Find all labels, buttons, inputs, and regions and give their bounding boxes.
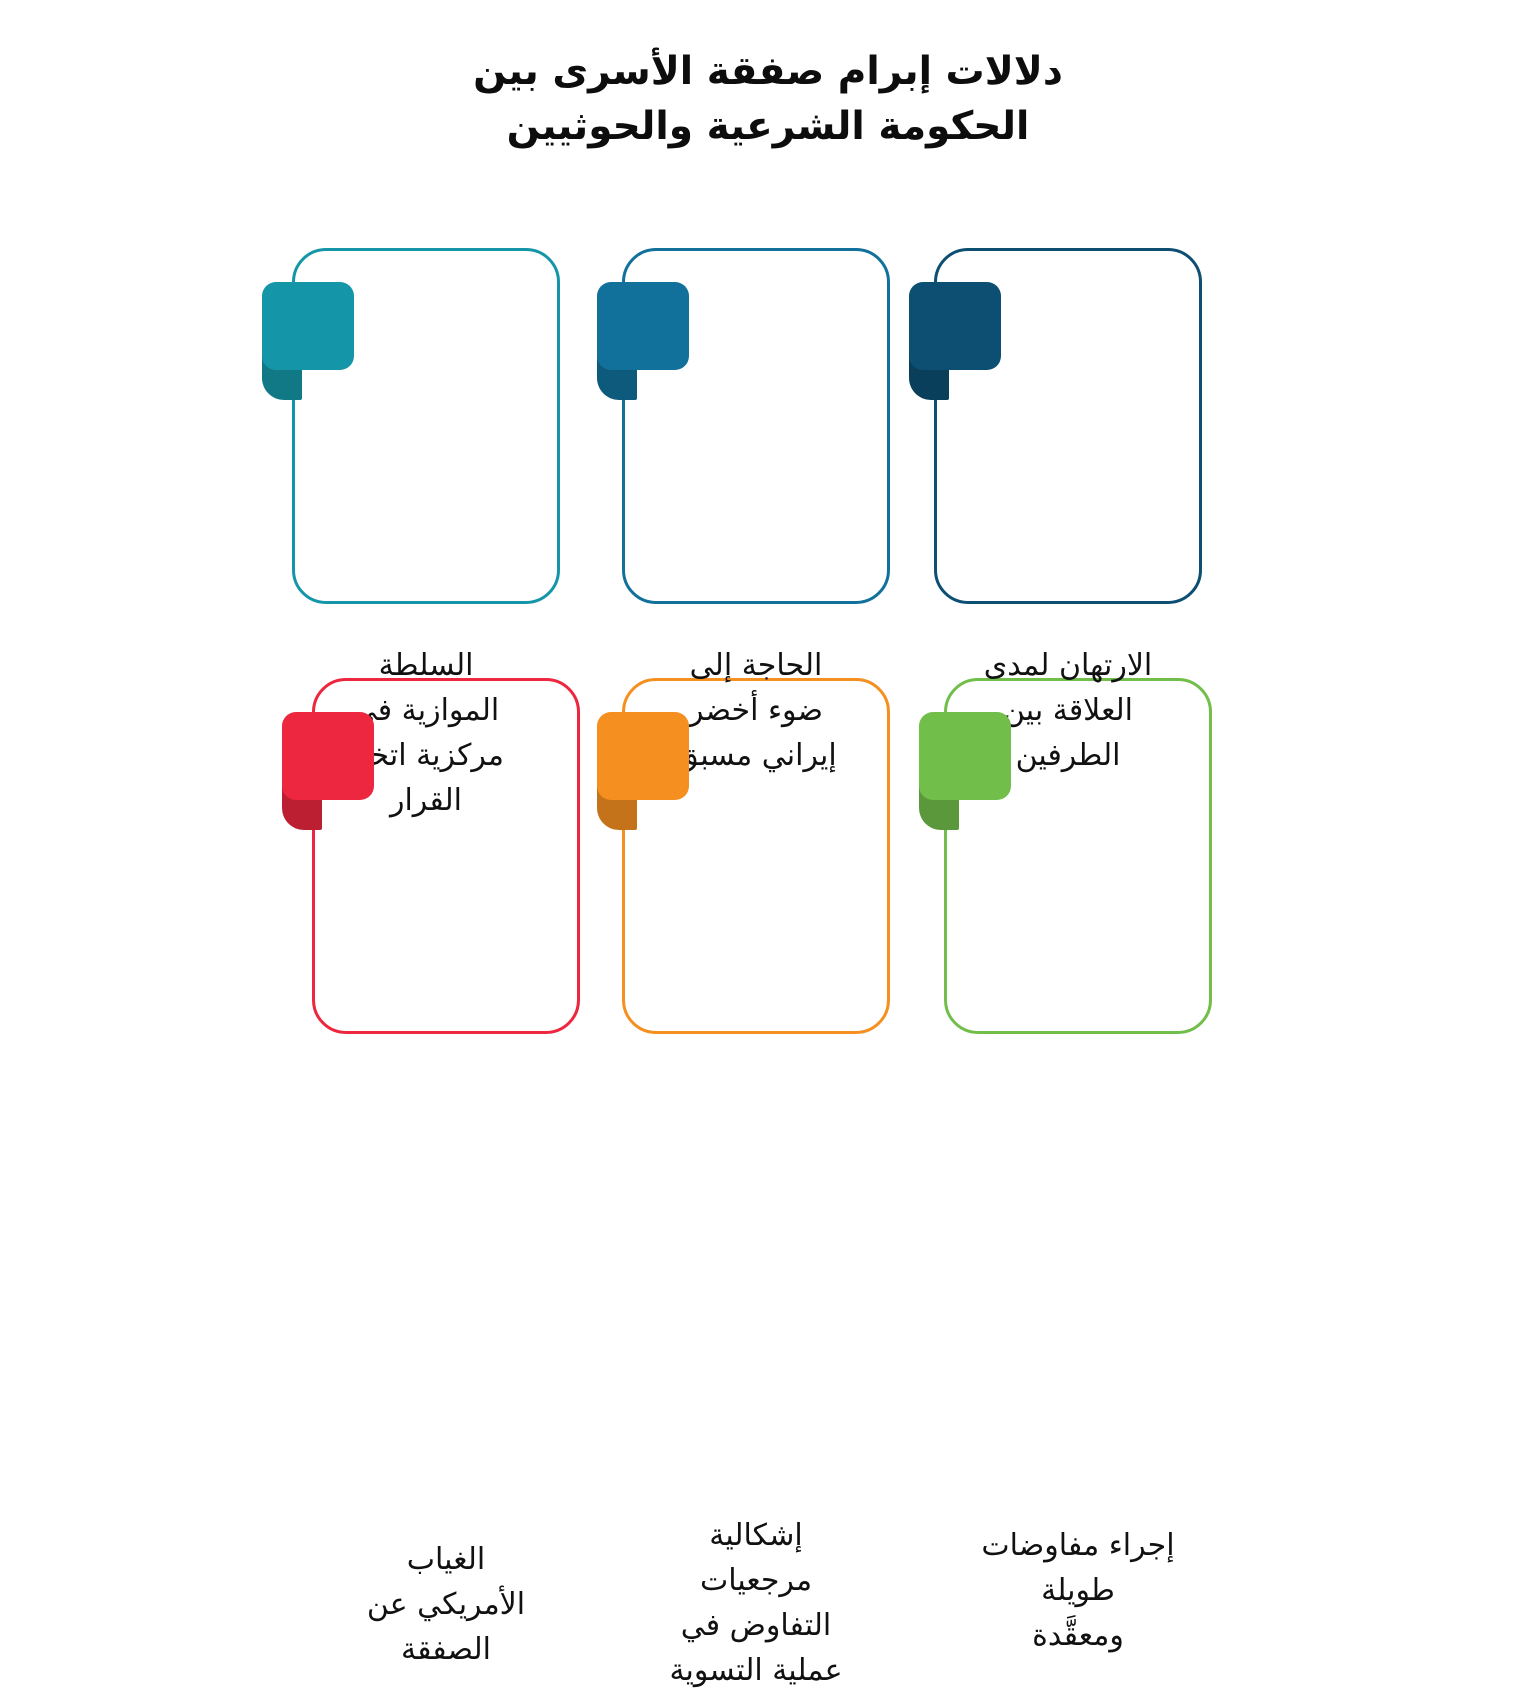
card-3-tab: [909, 282, 1001, 370]
card-5-tab-face-icon: [597, 712, 689, 800]
card-5-tab: [597, 712, 689, 800]
card-6-tab: [919, 712, 1011, 800]
card-4-label: الغياب الأمريكي عن الصفقة: [315, 1537, 577, 1672]
card-2-tab-face-icon: [597, 282, 689, 370]
card-6-tab-face-icon: [919, 712, 1011, 800]
infographic-canvas: دلالات إبرام صفقة الأسرى بين الحكومة الش…: [0, 0, 1536, 1070]
card-4-tab-face-icon: [282, 712, 374, 800]
card-4-tab: [282, 712, 374, 800]
card-1-tab: [262, 282, 354, 370]
card-1-tab-face-icon: [262, 282, 354, 370]
card-6-label: إجراء مفاوضات طويلة ومعقَّدة: [947, 1523, 1209, 1658]
card-5-label: إشكالية مرجعيات التفاوض في عملية التسوية: [625, 1513, 887, 1693]
card-2-tab: [597, 282, 689, 370]
page-title: دلالات إبرام صفقة الأسرى بين الحكومة الش…: [0, 44, 1536, 155]
card-3-tab-face-icon: [909, 282, 1001, 370]
